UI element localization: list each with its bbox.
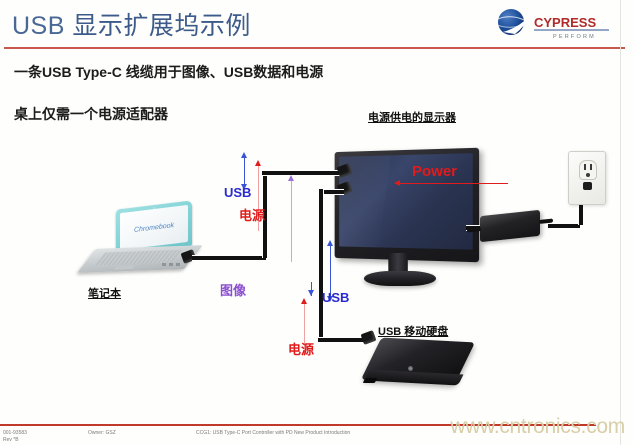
monitor-bezel: [335, 148, 479, 263]
laptop-screen: Chromebook: [120, 205, 188, 250]
signal-label-power-bottom: 电源: [288, 339, 314, 358]
subheading-secondary: 桌上仅需一个电源适配器: [14, 104, 168, 124]
cable-to-monitor-upper: [262, 170, 344, 176]
subheading-primary: 一条USB Type-C 线缆用于图像、USB数据和电源: [14, 62, 323, 82]
signal-label-power-top: 电源: [239, 205, 265, 224]
site-watermark: www.cntronics.com: [450, 415, 625, 439]
footer-doc-id: 001-93583: [3, 430, 27, 436]
page-title: USB 显示扩展坞示例: [12, 6, 251, 42]
hdd-label: USB 移动硬盘: [378, 323, 448, 339]
footer-deck-title: CCG1: USB Type-C Port Controller with PD…: [196, 430, 350, 436]
arrow-video-top: [291, 180, 292, 262]
cable-down-to-hdd: [318, 189, 324, 341]
monitor-stand-base: [364, 271, 436, 286]
arrow-usb-bottom-tip: [311, 282, 312, 296]
wall-outlet: [568, 151, 606, 205]
laptop-label: 笔记本: [88, 285, 121, 301]
hdd-led-icon: [408, 366, 413, 371]
laptop-ports: [162, 263, 180, 266]
power-label: Power: [412, 163, 457, 180]
footer-doc-rev: Rev *B: [3, 437, 19, 443]
cable-laptop-horizontal: [192, 255, 266, 261]
laptop-trackpad: [114, 265, 136, 270]
footer-owner: Owner: GSZ: [88, 430, 116, 436]
hdd-usb-port: [363, 378, 377, 383]
outlet-plug-inserted: [583, 182, 592, 190]
page-title-cjk: 显示扩展坞示例: [72, 12, 251, 40]
chromebook-laptop: Chromebook: [88, 205, 196, 277]
usb-external-hard-drive: [360, 340, 472, 402]
signal-label-usb-bottom: USB: [322, 290, 349, 305]
arrow-power-to-monitor: [400, 183, 508, 184]
cypress-logo: CYPRESS PERFORM: [491, 8, 619, 42]
header-divider: [4, 47, 625, 49]
power-adapter-brick: [480, 210, 540, 242]
signal-label-video-top: 图像: [220, 280, 246, 299]
usb-dock-diagram: 电源供电的显示器 Chromebook: [0, 125, 633, 425]
arrow-usb-top: [244, 157, 245, 185]
outlet-socket-top: [579, 160, 597, 180]
right-edge-rule: [620, 0, 621, 445]
signal-label-usb-top: USB: [224, 185, 251, 200]
laptop-brand-label: Chromebook: [134, 222, 174, 234]
svg-text:CYPRESS: CYPRESS: [534, 15, 596, 30]
monitor-label: 电源供电的显示器: [368, 109, 456, 125]
cable-brick-to-wall: [548, 223, 580, 229]
page-title-latin: USB: [12, 12, 72, 40]
svg-text:PERFORM: PERFORM: [553, 34, 596, 40]
slide-canvas: USB 显示扩展坞示例 CYPRESS PERFORM 一条USB Type-C…: [0, 0, 633, 445]
